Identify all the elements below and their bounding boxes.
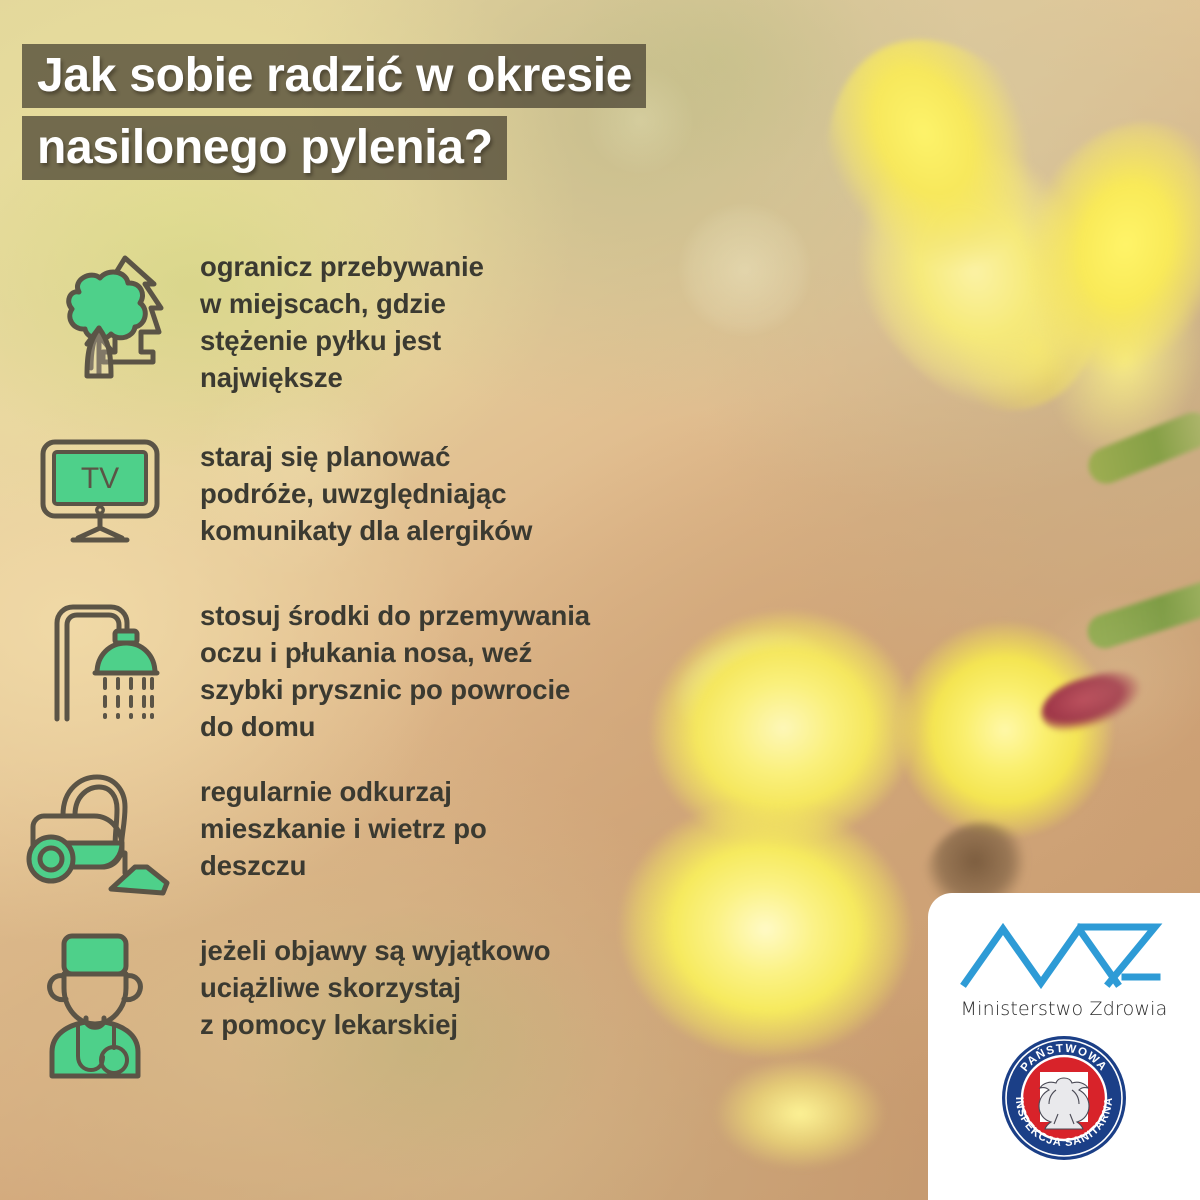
tip-line: do domu [200,708,590,745]
tip-line: deszczu [200,847,487,884]
list-item-text: regularnie odkurzaj mieszkanie i wietrz … [200,771,487,884]
title-line-2: nasilonego pylenia? [22,116,507,180]
tip-line: podróże, uwzględniając [200,475,532,512]
tv-screen-label: TV [81,462,119,495]
panstwowa-inspekcja-sanitarna-seal: PAŃSTWOWA INSPEKCJA SANITARNA [1000,1034,1128,1167]
list-item-tv: TV staraj się planować podróże, uwzględn… [0,436,700,549]
page-title: Jak sobie radzić w okresie nasilonego py… [22,44,646,188]
tip-line: z pomocy lekarskiej [200,1006,550,1043]
tip-line: stężenie pyłku jest [200,322,484,359]
tip-line: regularnie odkurzaj [200,773,487,810]
advice-list: ogranicz przebywanie w miejscach, gdzie … [0,246,700,1102]
tip-line: oczu i płukania nosa, weź [200,634,590,671]
vacuum-cleaner-icon [0,771,200,896]
list-item-vacuum: regularnie odkurzaj mieszkanie i wietrz … [0,771,700,896]
tip-line: w miejscach, gdzie [200,285,484,322]
tip-line: uciążliwe skorzystaj [200,969,550,1006]
title-line-1: Jak sobie radzić w okresie [22,44,646,108]
tip-line: komunikaty dla alergików [200,512,532,549]
list-item-text: staraj się planować podróże, uwzględniaj… [200,436,532,549]
ministry-caption: Ministerstwo Zdrowia [961,998,1168,1020]
list-item-tree: ogranicz przebywanie w miejscach, gdzie … [0,246,700,396]
poster-canvas: Jak sobie radzić w okresie nasilonego py… [0,0,1200,1200]
logo-panel: Ministerstwo Zdrowia [928,893,1200,1200]
list-item-shower: stosuj środki do przemywania oczu i płuk… [0,595,700,745]
tip-line: mieszkanie i wietrz po [200,810,487,847]
tree-icon [0,246,200,386]
tip-line: szybki prysznic po powrocie [200,671,590,708]
list-item-text: jeżeli objawy są wyjątkowo uciążliwe sko… [200,930,550,1043]
tv-icon: TV [0,436,200,546]
tip-line: stosuj środki do przemywania [200,597,590,634]
shower-icon [0,595,200,725]
list-item-text: ogranicz przebywanie w miejscach, gdzie … [200,246,484,396]
tip-line: największe [200,359,484,396]
list-item-doctor: jeżeli objawy są wyjątkowo uciążliwe sko… [0,930,700,1080]
tip-line: staraj się planować [200,438,532,475]
tip-line: jeżeli objawy są wyjątkowo [200,932,550,969]
tip-line: ogranicz przebywanie [200,248,484,285]
mz-logo-icon [959,919,1169,994]
doctor-icon [0,930,200,1080]
list-item-text: stosuj środki do przemywania oczu i płuk… [200,595,590,745]
